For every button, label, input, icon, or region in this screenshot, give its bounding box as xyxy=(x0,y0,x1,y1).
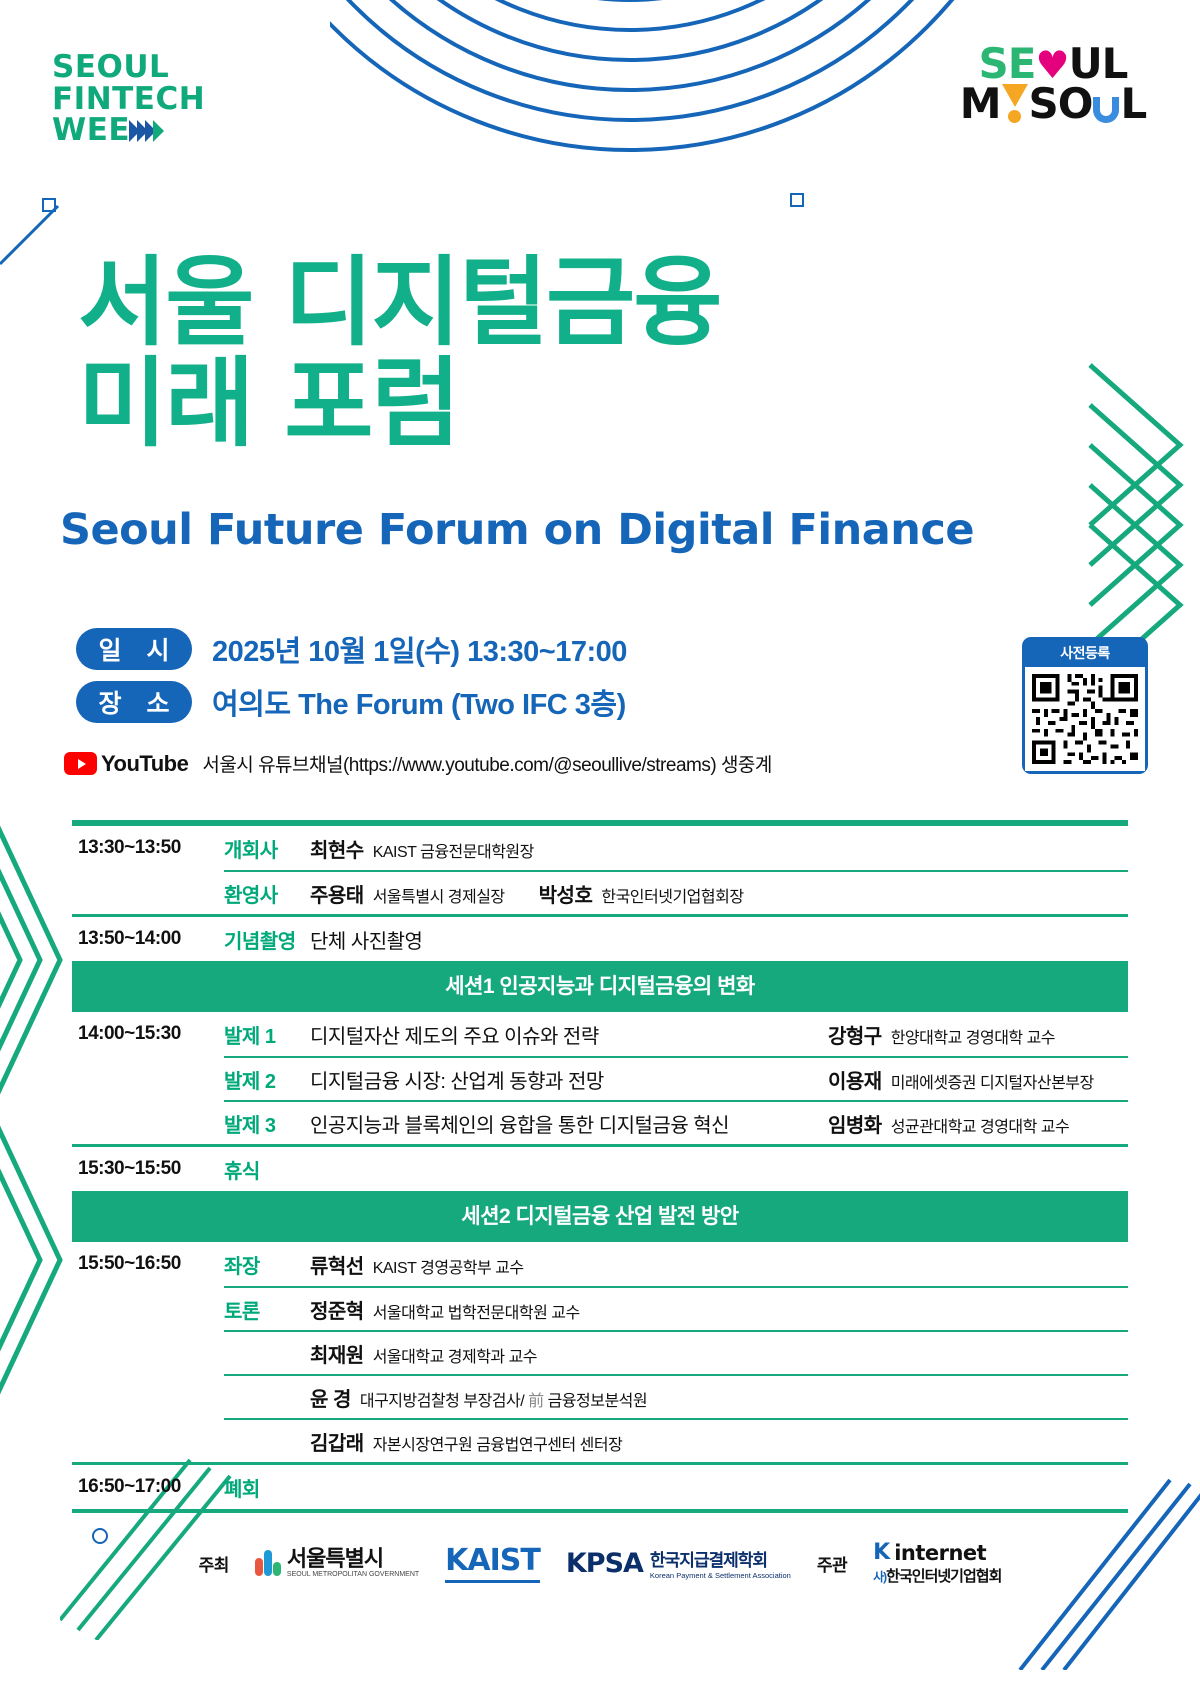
page-title-line-2: 미래 포럼 xyxy=(78,354,720,455)
schedule-title: 디지털자산 제도의 주요 이슈와 전략 xyxy=(310,1020,828,1049)
seoul-suffix: UL xyxy=(1069,44,1128,84)
speaker-affiliation: 한양대학교 경영대학 교수 xyxy=(891,1024,1055,1048)
schedule-row-content: 김갑래자본시장연구원 금융법연구센터 센터장 xyxy=(224,1418,1128,1462)
kpsa-wordmark: KPSA xyxy=(566,1548,643,1579)
logo-row-mysoul: M SO L xyxy=(958,84,1148,124)
logo-row-seoul: SE ♥ UL xyxy=(958,44,1148,84)
date-label-pill: 일 시 xyxy=(76,628,192,670)
schedule-title: 인공지능과 블록체인의 융합을 통한 디지털금융 혁신 xyxy=(310,1109,828,1138)
schedule-row-content: 개회사최현수KAIST 금융전문대학원장 xyxy=(224,826,1128,870)
logo-kaist: KAIST xyxy=(445,1543,540,1583)
schedule-row-content: 윤 경대구지방검찰청 부장검사/ 前 금융정보분석원 xyxy=(224,1374,1128,1418)
schedule-row-content: 발제 3인공지능과 블록체인의 융합을 통한 디지털금융 혁신임병화성균관대학교… xyxy=(224,1100,1128,1144)
schedule-row: 14:00~15:30발제 1디지털자산 제도의 주요 이슈와 전략강형구한양대… xyxy=(72,1012,1128,1056)
kiea-name: 한국인터넷기업협회 xyxy=(886,1568,1001,1585)
speaker-affiliation: 자본시장연구원 금융법연구센터 센터장 xyxy=(373,1431,623,1455)
kiea-top: K internet xyxy=(873,1540,1001,1565)
heart-icon: ♥ xyxy=(1036,46,1069,84)
speaker-name: 최재원 xyxy=(310,1339,364,1368)
seoul-my-soul-logo: SE ♥ UL M SO L xyxy=(958,44,1148,124)
schedule-row: 최재원서울대학교 경제학과 교수 xyxy=(72,1330,1128,1374)
schedule-speakers: 윤 경대구지방검찰청 부장검사/ 前 금융정보분석원 xyxy=(310,1383,1128,1412)
host-label: 주최 xyxy=(199,1551,229,1576)
date-day: 10월 1일(수) xyxy=(308,636,459,668)
session-band: 세션2 디지털금융 산업 발전 방안 xyxy=(72,1191,1128,1239)
schedule-role: 발제 1 xyxy=(224,1020,310,1049)
schedule-row: 환영사주용태서울특별시 경제실장박성호한국인터넷기업협회장 xyxy=(72,870,1128,914)
diagonal-line-top-left xyxy=(0,200,70,275)
kaist-underline xyxy=(445,1580,540,1583)
schedule-speakers: 류혁선KAIST 경영공학부 교수 xyxy=(310,1250,1128,1279)
seoul-name-en: SEOUL METROPOLITAN GOVERNMENT xyxy=(287,1571,419,1578)
speaker-name: 이용재 xyxy=(828,1065,882,1094)
seoul-fintech-week-logo: SEOUL FINTECH WEE xyxy=(52,52,205,147)
speaker-name: 최현수 xyxy=(310,834,364,863)
schedule-speakers: 최재원서울대학교 경제학과 교수 xyxy=(310,1339,1128,1368)
kiea-name-ko: 사)한국인터넷기업협회 xyxy=(873,1565,1001,1586)
place-label-pill: 장 소 xyxy=(76,681,192,723)
schedule-time: 16:50~17:00 xyxy=(72,1476,224,1498)
speaker: 류혁선KAIST 경영공학부 교수 xyxy=(310,1250,524,1279)
logo-line-2: FINTECH xyxy=(52,84,205,116)
schedule-speakers: 김갑래자본시장연구원 금융법연구센터 센터장 xyxy=(310,1427,1128,1456)
page-title: 서울 디지털금융 미래 포럼 xyxy=(78,253,720,455)
event-place-value: 여의도 The Forum (Two IFC 3층) xyxy=(212,681,626,723)
qr-code-image xyxy=(1025,667,1145,771)
schedule-role: 토론 xyxy=(224,1295,310,1324)
youtube-channel-text: 서울시 유튜브채널(https://www.youtube.com/@seoul… xyxy=(202,750,772,777)
schedule-time: 13:50~14:00 xyxy=(72,928,224,950)
event-place-row: 장 소 여의도 The Forum (Two IFC 3층) xyxy=(76,681,627,723)
speaker: 김갑래자본시장연구원 금융법연구센터 센터장 xyxy=(310,1427,622,1456)
schedule-role: 휴식 xyxy=(224,1155,310,1184)
speaker: 최재원서울대학교 경제학과 교수 xyxy=(310,1339,537,1368)
exclamation-icon xyxy=(1002,84,1028,123)
schedule-time: 13:30~13:50 xyxy=(72,837,224,859)
square-marker-left xyxy=(42,198,56,212)
schedule-row-content: 환영사주용태서울특별시 경제실장박성호한국인터넷기업협회장 xyxy=(224,870,1128,914)
youtube-wordmark: YouTube xyxy=(101,751,188,777)
page-title-line-1: 서울 디지털금융 xyxy=(78,253,720,354)
page-subtitle: Seoul Future Forum on Digital Finance xyxy=(60,505,974,555)
speaker: 박성호한국인터넷기업협회장 xyxy=(539,879,744,908)
kpsa-name-en: Korean Payment & Settlement Association xyxy=(650,1571,791,1580)
seoul-name-ko: 서울특별시 xyxy=(287,1548,419,1570)
preregistration-qr[interactable]: 사전등록 xyxy=(1022,637,1148,774)
kiea-prefix: 사) xyxy=(873,1570,886,1584)
seoul-wordmark: 서울특별시 SEOUL METROPOLITAN GOVERNMENT xyxy=(287,1548,419,1578)
schedule-row-content: 기념촬영단체 사진촬영 xyxy=(224,917,1128,961)
stripes-decoration-left xyxy=(0,810,70,1435)
speaker-affiliation: 성균관대학교 경영대학 교수 xyxy=(891,1113,1070,1137)
date-time: 13:30~17:00 xyxy=(460,636,627,668)
youtube-play-icon xyxy=(64,752,97,775)
schedule-row-content: 휴식 xyxy=(224,1147,1128,1191)
schedule-row-content: 최재원서울대학교 경제학과 교수 xyxy=(224,1330,1128,1374)
schedule-role: 발제 3 xyxy=(224,1109,310,1138)
logo-korea-internet-corporations-association: K internet 사)한국인터넷기업협회 xyxy=(873,1540,1001,1586)
speaker-name: 윤 경 xyxy=(310,1383,351,1412)
speaker-name: 박성호 xyxy=(539,879,593,908)
seoul-prefix: SE xyxy=(979,44,1036,84)
speaker: 윤 경대구지방검찰청 부장검사/ 前 금융정보분석원 xyxy=(310,1383,647,1412)
speaker-affiliation: 대구지방검찰청 부장검사/ 前 금융정보분석원 xyxy=(360,1387,647,1411)
schedule-role: 개회사 xyxy=(224,834,310,863)
schedule-row-content: 토론정준혁서울대학교 법학전문대학원 교수 xyxy=(224,1286,1128,1330)
speaker: 정준혁서울대학교 법학전문대학원 교수 xyxy=(310,1295,580,1324)
schedule-table: 13:30~13:50개회사최현수KAIST 금융전문대학원장환영사주용태서울특… xyxy=(72,820,1128,1513)
event-date-row: 일 시 2025년 10월 1일(수) 13:30~17:00 xyxy=(76,628,627,670)
schedule-speakers: 주용태서울특별시 경제실장박성호한국인터넷기업협회장 xyxy=(310,879,1128,908)
organizer-label: 주관 xyxy=(817,1551,847,1576)
schedule-row: 토론정준혁서울대학교 법학전문대학원 교수 xyxy=(72,1286,1128,1330)
mysoul-l: L xyxy=(1120,84,1146,124)
schedule-row: 발제 2디지털금융 시장: 산업계 동향과 전망이용재미래에셋증권 디지털자산본… xyxy=(72,1056,1128,1100)
speaker-affiliation: 미래에셋증권 디지털자산본부장 xyxy=(891,1069,1094,1093)
schedule-speakers: 임병화성균관대학교 경영대학 교수 xyxy=(828,1109,1128,1138)
speaker-affiliation: 서울대학교 경제학과 교수 xyxy=(373,1343,537,1367)
chevron-arrows-icon xyxy=(132,120,164,142)
schedule-role: 좌장 xyxy=(224,1250,310,1279)
kpsa-name-ko: 한국지급결제학회 xyxy=(650,1546,791,1571)
schedule-title: 디지털금융 시장: 산업계 동향과 전망 xyxy=(310,1065,828,1094)
schedule-row: 김갑래자본시장연구원 금융법연구센터 센터장 xyxy=(72,1418,1128,1462)
schedule-time: 15:30~15:50 xyxy=(72,1158,224,1180)
schedule-role: 발제 2 xyxy=(224,1065,310,1094)
speaker-name: 김갑래 xyxy=(310,1427,364,1456)
schedule-speakers: 정준혁서울대학교 법학전문대학원 교수 xyxy=(310,1295,1128,1324)
schedule-row-content: 좌장류혁선KAIST 경영공학부 교수 xyxy=(224,1242,1128,1286)
footer-sponsors: 주최 서울특별시 SEOUL METROPOLITAN GOVERNMENT K… xyxy=(0,1540,1200,1586)
schedule-row: 13:30~13:50개회사최현수KAIST 금융전문대학원장 xyxy=(72,826,1128,870)
speaker-name: 임병화 xyxy=(828,1109,882,1138)
kiea-brand-k: K xyxy=(873,1540,890,1565)
session-band: 세션1 인공지능과 디지털금융의 변화 xyxy=(72,961,1128,1009)
speaker: 최현수KAIST 금융전문대학원장 xyxy=(310,834,534,863)
schedule-title: 단체 사진촬영 xyxy=(310,925,1128,954)
schedule-role: 환영사 xyxy=(224,879,310,908)
speaker-affiliation: 한국인터넷기업협회장 xyxy=(601,883,743,907)
schedule-role: 기념촬영 xyxy=(224,925,310,954)
mysoul-m: M xyxy=(960,84,1001,124)
schedule-row-content: 폐회 xyxy=(224,1465,1128,1509)
kaist-wordmark: KAIST xyxy=(445,1543,540,1578)
speaker-affiliation: 서울특별시 경제실장 xyxy=(373,883,505,907)
schedule-speakers: 이용재미래에셋증권 디지털자산본부장 xyxy=(828,1065,1128,1094)
logo-kpsa: KPSA 한국지급결제학회 Korean Payment & Settlemen… xyxy=(566,1546,791,1580)
schedule-row: 15:30~15:50휴식 xyxy=(72,1147,1128,1191)
event-date-value: 2025년 10월 1일(수) 13:30~17:00 xyxy=(212,628,627,670)
u-smile-icon xyxy=(1093,97,1119,123)
logo-line-1: SEOUL xyxy=(52,52,205,84)
schedule-body: 13:30~13:50개회사최현수KAIST 금융전문대학원장환영사주용태서울특… xyxy=(72,823,1128,1509)
logo-line-3: WEE xyxy=(52,115,130,147)
speaker: 강형구한양대학교 경영대학 교수 xyxy=(828,1020,1055,1049)
schedule-row: 16:50~17:00폐회 xyxy=(72,1465,1128,1509)
speaker-affiliation: 서울대학교 법학전문대학원 교수 xyxy=(373,1299,580,1323)
schedule-speakers: 강형구한양대학교 경영대학 교수 xyxy=(828,1020,1128,1049)
speaker: 이용재미래에셋증권 디지털자산본부장 xyxy=(828,1065,1094,1094)
speaker: 임병화성균관대학교 경영대학 교수 xyxy=(828,1109,1069,1138)
schedule-time: 14:00~15:30 xyxy=(72,1023,224,1045)
youtube-logo: YouTube xyxy=(64,751,188,777)
event-info: 일 시 2025년 10월 1일(수) 13:30~17:00 장 소 여의도 … xyxy=(76,628,627,734)
qr-label: 사전등록 xyxy=(1025,640,1145,667)
schedule-row-content: 발제 1디지털자산 제도의 주요 이슈와 전략강형구한양대학교 경영대학 교수 xyxy=(224,1012,1128,1056)
speaker: 주용태서울특별시 경제실장 xyxy=(310,879,505,908)
speaker-name: 주용태 xyxy=(310,879,364,908)
schedule-role: 폐회 xyxy=(224,1473,310,1502)
speaker-affiliation: KAIST 금융전문대학원장 xyxy=(373,838,534,862)
schedule-speakers: 최현수KAIST 금융전문대학원장 xyxy=(310,834,1128,863)
speaker-affiliation: KAIST 경영공학부 교수 xyxy=(373,1254,524,1278)
logo-seoul-metropolitan-government: 서울특별시 SEOUL METROPOLITAN GOVERNMENT xyxy=(255,1548,419,1578)
schedule-bottom-rule xyxy=(72,1509,1128,1513)
youtube-livestream-row[interactable]: YouTube 서울시 유튜브채널(https://www.youtube.co… xyxy=(64,750,772,777)
schedule-row: 윤 경대구지방검찰청 부장검사/ 前 금융정보분석원 xyxy=(72,1374,1128,1418)
mysoul-so: SO xyxy=(1029,84,1093,124)
date-year: 2025년 xyxy=(212,636,308,668)
speaker-name: 정준혁 xyxy=(310,1295,364,1324)
kiea-brand-word: internet xyxy=(894,1541,986,1565)
schedule-row: 13:50~14:00기념촬영단체 사진촬영 xyxy=(72,917,1128,961)
speaker-name: 류혁선 xyxy=(310,1250,364,1279)
schedule-row-content: 발제 2디지털금융 시장: 산업계 동향과 전망이용재미래에셋증권 디지털자산본… xyxy=(224,1056,1128,1100)
schedule-time: 15:50~16:50 xyxy=(72,1253,224,1275)
schedule-row: 15:50~16:50좌장류혁선KAIST 경영공학부 교수 xyxy=(72,1242,1128,1286)
speaker-name: 강형구 xyxy=(828,1020,882,1049)
poster-root: SEOUL FINTECH WEE SE ♥ UL M SO L 서울 디지털금… xyxy=(0,0,1200,1697)
square-marker-right xyxy=(790,193,804,207)
schedule-row: 발제 3인공지능과 블록체인의 융합을 통한 디지털금융 혁신임병화성균관대학교… xyxy=(72,1100,1128,1144)
seoul-symbol-icon xyxy=(255,1550,281,1576)
